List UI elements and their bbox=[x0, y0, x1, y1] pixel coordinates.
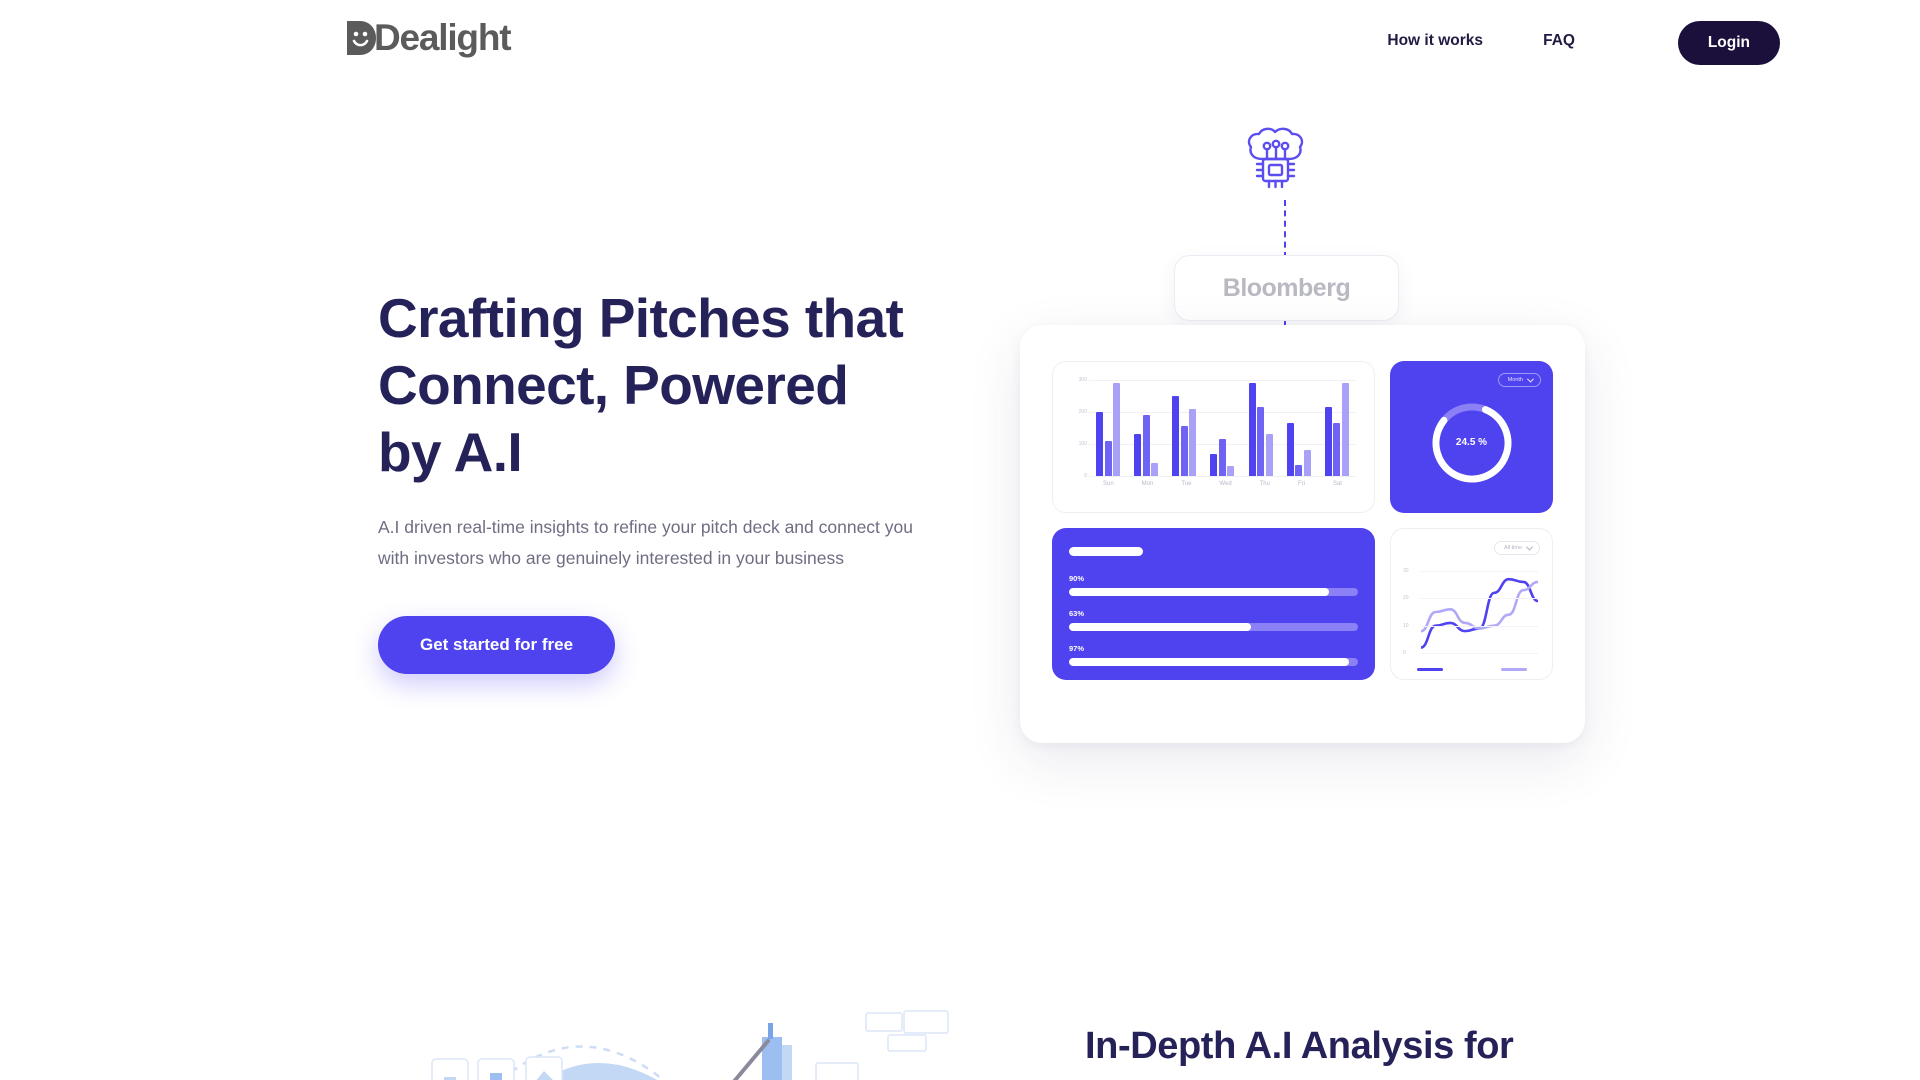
progress-fill bbox=[1069, 658, 1349, 666]
x-tick-label: Wed bbox=[1219, 481, 1231, 487]
bar-chart-bars bbox=[1089, 380, 1356, 476]
completion-donut: Month 24.5 % bbox=[1390, 361, 1553, 513]
y-tick-label: 0 bbox=[1403, 650, 1406, 656]
bar-group bbox=[1134, 415, 1158, 476]
gridline bbox=[1421, 598, 1538, 599]
progress-track bbox=[1069, 658, 1358, 666]
x-tick-label: Mon bbox=[1142, 481, 1154, 487]
progress-row: 97% bbox=[1069, 644, 1358, 666]
ai-brain-chip-icon bbox=[1238, 125, 1330, 197]
all-time-dropdown-label: All time bbox=[1504, 545, 1522, 551]
x-tick-label: Sun bbox=[1103, 481, 1114, 487]
bar bbox=[1266, 434, 1273, 476]
month-dropdown-label: Month bbox=[1508, 377, 1523, 383]
bar bbox=[1172, 396, 1179, 476]
bar bbox=[1304, 450, 1311, 476]
logo[interactable]: Dealight bbox=[345, 18, 510, 58]
progress-value-label: 90% bbox=[1069, 574, 1358, 583]
bar bbox=[1219, 439, 1226, 476]
metric-progress-bars: 90%63%97% bbox=[1052, 528, 1375, 680]
get-started-button[interactable]: Get started for free bbox=[378, 616, 615, 674]
bar bbox=[1151, 463, 1158, 476]
source-card-label: Bloomberg bbox=[1223, 274, 1350, 303]
bar bbox=[1342, 383, 1349, 476]
x-tick-label: Tue bbox=[1181, 481, 1191, 487]
bar bbox=[1143, 415, 1150, 476]
line-chart-plot: 0102030 bbox=[1421, 571, 1538, 653]
hero-copy: Crafting Pitches that Connect, Powered b… bbox=[378, 285, 938, 674]
bar bbox=[1181, 426, 1188, 476]
nav-item-how-it-works[interactable]: How it works bbox=[1387, 32, 1483, 50]
dashboard-mockup: 0100200300 SunMonTueWedThuFriSat Month bbox=[1020, 325, 1585, 743]
bar bbox=[1210, 454, 1217, 476]
line-chart-lines bbox=[1421, 571, 1538, 653]
progress-bars-panel: 90%63%97% bbox=[1052, 528, 1375, 680]
hero-subtitle: A.I driven real-time insights to refine … bbox=[378, 512, 938, 574]
y-tick-label: 300 bbox=[1067, 377, 1087, 383]
y-tick-label: 10 bbox=[1403, 623, 1409, 629]
donut-center-value: 24.5 % bbox=[1390, 437, 1553, 448]
weekly-bar-chart: 0100200300 SunMonTueWedThuFriSat bbox=[1053, 362, 1374, 512]
progress-row: 63% bbox=[1069, 609, 1358, 631]
line-chart-legend bbox=[1391, 668, 1552, 671]
analytics-scene-illustration bbox=[430, 985, 960, 1080]
y-tick-label: 200 bbox=[1067, 409, 1087, 415]
legend-swatch bbox=[1501, 668, 1527, 671]
progress-value-label: 63% bbox=[1069, 609, 1358, 618]
bar bbox=[1325, 407, 1332, 476]
x-tick-label: Thu bbox=[1260, 481, 1270, 487]
bar bbox=[1113, 383, 1120, 476]
progress-rows: 90%63%97% bbox=[1069, 574, 1358, 666]
source-card-bloomberg: Bloomberg bbox=[1174, 255, 1399, 321]
line-series bbox=[1421, 579, 1538, 647]
dealight-smiley-d-icon bbox=[345, 18, 377, 58]
y-tick-label: 0 bbox=[1067, 473, 1087, 479]
bar bbox=[1105, 441, 1112, 476]
donut-chart-panel: Month 24.5 % bbox=[1390, 361, 1553, 513]
progress-value-label: 97% bbox=[1069, 644, 1358, 653]
line-series bbox=[1421, 582, 1538, 631]
gridline bbox=[1421, 626, 1538, 627]
bar-group bbox=[1325, 383, 1349, 476]
connector-line-top bbox=[1284, 200, 1286, 258]
trend-line-chart: All time 0102030 bbox=[1391, 529, 1552, 679]
nav-item-faq[interactable]: FAQ bbox=[1543, 32, 1575, 50]
x-tick-label: Fri bbox=[1298, 481, 1305, 487]
bar bbox=[1134, 434, 1141, 476]
y-tick-label: 100 bbox=[1067, 441, 1087, 447]
legend-swatch bbox=[1417, 668, 1443, 671]
page-title: Crafting Pitches that Connect, Powered b… bbox=[378, 285, 908, 486]
hero-visual: Bloomberg 0100200300 SunMonTueWedThuFriS… bbox=[1000, 100, 1640, 780]
progress-row: 90% bbox=[1069, 574, 1358, 596]
bar-chart-plot: 0100200300 bbox=[1089, 380, 1356, 476]
progress-title-placeholder bbox=[1069, 547, 1143, 556]
progress-fill bbox=[1069, 588, 1329, 596]
logo-text: Dealight bbox=[374, 18, 510, 58]
bar-chart-panel: 0100200300 SunMonTueWedThuFriSat bbox=[1052, 361, 1375, 513]
bar-group bbox=[1172, 396, 1196, 476]
y-tick-label: 20 bbox=[1403, 595, 1409, 601]
bar bbox=[1257, 407, 1264, 476]
all-time-dropdown[interactable]: All time bbox=[1494, 541, 1540, 555]
line-chart-panel: All time 0102030 bbox=[1390, 528, 1553, 680]
bar bbox=[1189, 409, 1196, 476]
gridline bbox=[1421, 571, 1538, 572]
bar bbox=[1227, 466, 1234, 476]
bar bbox=[1096, 412, 1103, 476]
month-dropdown[interactable]: Month bbox=[1498, 373, 1541, 387]
login-button[interactable]: Login bbox=[1678, 21, 1780, 65]
y-tick-label: 30 bbox=[1403, 568, 1409, 574]
bar bbox=[1295, 465, 1302, 476]
bar bbox=[1249, 383, 1256, 476]
site-header: Dealight How it works FAQ Login bbox=[0, 0, 1920, 88]
bar bbox=[1333, 423, 1340, 476]
progress-fill bbox=[1069, 623, 1251, 631]
gridline bbox=[1421, 653, 1538, 654]
section-title: In-Depth A.I Analysis for Pitch Perfecti… bbox=[1085, 1020, 1565, 1080]
bar-group bbox=[1249, 383, 1273, 476]
bar bbox=[1287, 423, 1294, 476]
chevron-down-icon bbox=[1526, 543, 1533, 550]
bar-group bbox=[1210, 439, 1234, 476]
x-tick-label: Sat bbox=[1333, 481, 1342, 487]
bar-group bbox=[1287, 423, 1311, 476]
bar-chart-x-labels: SunMonTueWedThuFriSat bbox=[1089, 481, 1356, 487]
progress-track bbox=[1069, 588, 1358, 596]
bar-group bbox=[1096, 383, 1120, 476]
gridline bbox=[1089, 476, 1356, 477]
chevron-down-icon bbox=[1527, 375, 1534, 382]
progress-track bbox=[1069, 623, 1358, 631]
